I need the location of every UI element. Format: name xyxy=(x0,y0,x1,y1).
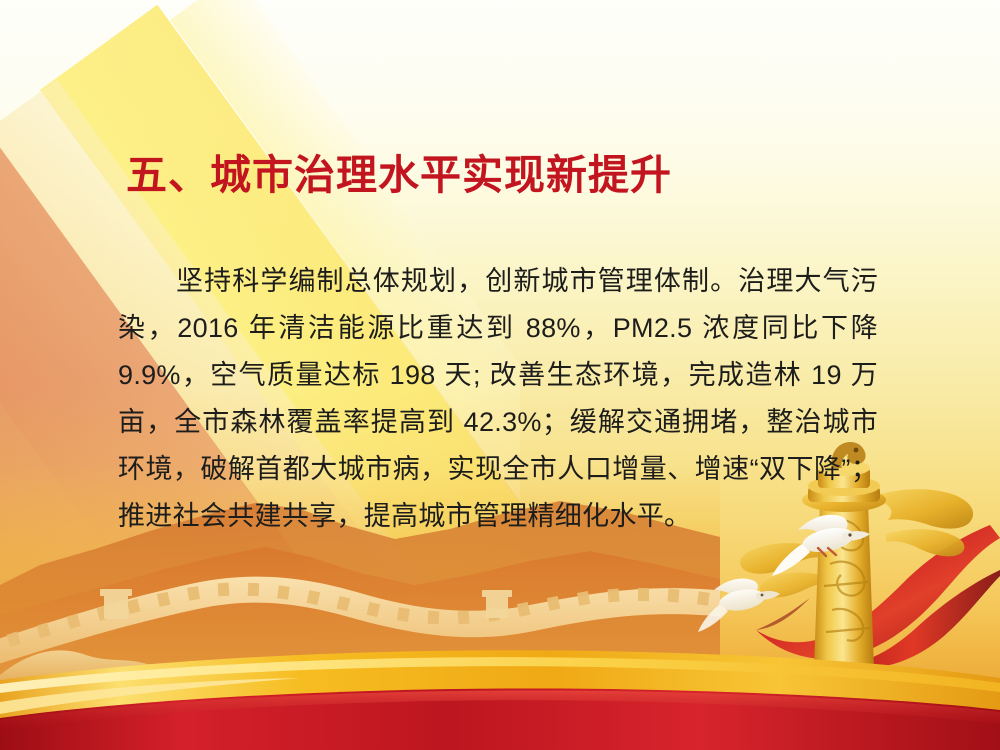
dove-lower xyxy=(698,578,780,632)
bottom-wave-bands xyxy=(0,640,1000,750)
slide-canvas: 五、城市治理水平实现新提升 坚持科学编制总体规划，创新城市管理体制。治理大气污染… xyxy=(0,0,1000,750)
page-title: 五、城市治理水平实现新提升 xyxy=(126,141,672,201)
body-text-block: 坚持科学编制总体规划，创新城市管理体制。治理大气污染，2016 年清洁能源比重达… xyxy=(118,258,878,540)
body-paragraph: 坚持科学编制总体规划，创新城市管理体制。治理大气污染，2016 年清洁能源比重达… xyxy=(118,258,878,540)
